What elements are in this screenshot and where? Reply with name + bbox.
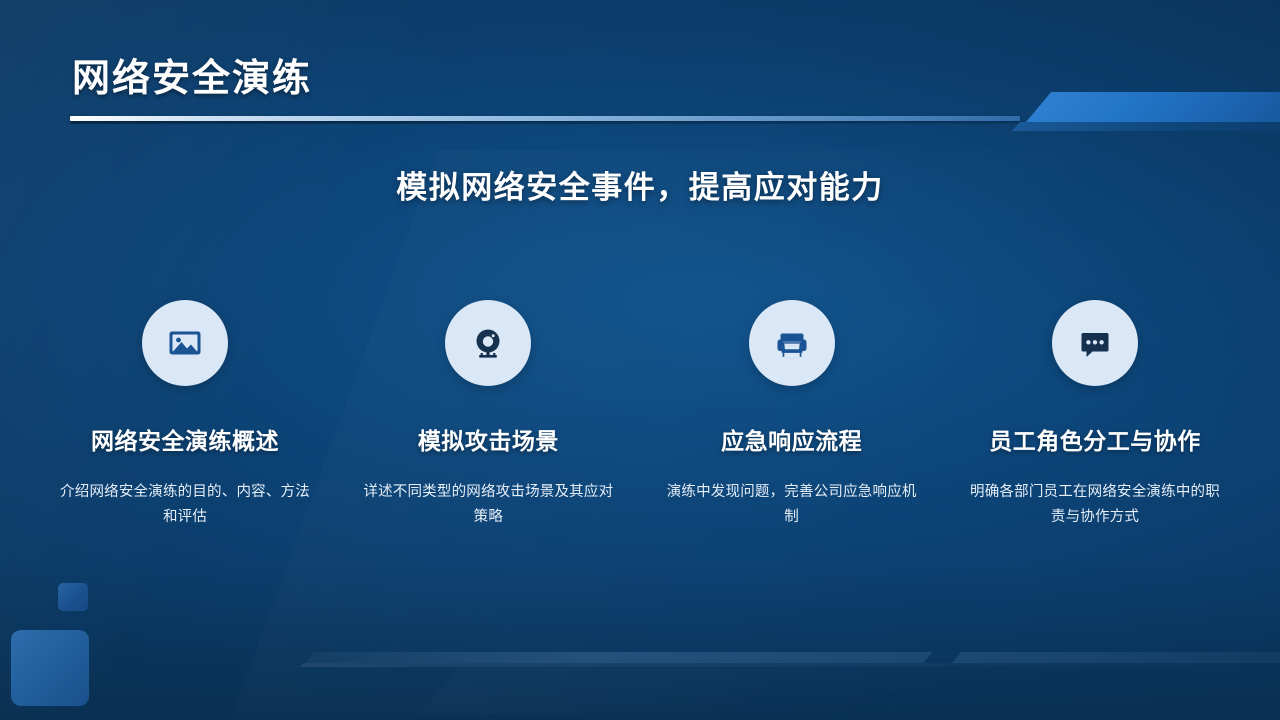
header-accent-shape: [1026, 92, 1280, 122]
feature-card[interactable]: 网络安全演练概述 介绍网络安全演练的目的、内容、方法和评估: [50, 300, 320, 530]
page-title: 网络安全演练: [72, 47, 312, 102]
slide-canvas: 网络安全演练 模拟网络安全事件，提高应对能力 网络安全演练概述 介绍网络安全演练…: [0, 0, 1280, 720]
image-icon: [164, 322, 206, 364]
webcam-icon: [467, 322, 509, 364]
chat-bubble-icon: [1074, 322, 1116, 364]
header-accent-shape-shadow: [1012, 122, 1280, 131]
icon-badge: [142, 300, 228, 386]
icon-badge: [445, 300, 531, 386]
slide-subtitle: 模拟网络安全事件，提高应对能力: [0, 162, 1280, 207]
feature-card-title: 网络安全演练概述: [91, 422, 279, 456]
feature-card[interactable]: 应急响应流程 演练中发现问题，完善公司应急响应机制: [657, 300, 927, 530]
decorative-stripe-wash: [420, 668, 1280, 714]
icon-badge: [749, 300, 835, 386]
icon-badge: [1052, 300, 1138, 386]
decorative-square-large: [11, 630, 89, 706]
feature-card[interactable]: 模拟攻击场景 详述不同类型的网络攻击场景及其应对策略: [353, 300, 623, 530]
decorative-square-small: [58, 583, 88, 611]
feature-card-description: 演练中发现问题，完善公司应急响应机制: [667, 480, 917, 530]
armchair-icon: [771, 322, 813, 364]
header-divider-shadow: [70, 121, 1020, 124]
decorative-stripe-right: [952, 652, 1280, 663]
feature-card-list: 网络安全演练概述 介绍网络安全演练的目的、内容、方法和评估 模拟: [50, 300, 1230, 530]
header-divider: [70, 116, 1020, 121]
feature-card[interactable]: 员工角色分工与协作 明确各部门员工在网络安全演练中的职责与协作方式: [960, 300, 1230, 530]
feature-card-title: 应急响应流程: [721, 422, 862, 456]
feature-card-title: 模拟攻击场景: [418, 422, 559, 456]
feature-card-description: 介绍网络安全演练的目的、内容、方法和评估: [60, 480, 310, 530]
decorative-stripe-hairline: [300, 663, 1280, 667]
feature-card-description: 详述不同类型的网络攻击场景及其应对策略: [363, 480, 613, 530]
decorative-stripe-left: [305, 652, 932, 663]
feature-card-description: 明确各部门员工在网络安全演练中的职责与协作方式: [970, 480, 1220, 530]
feature-card-title: 员工角色分工与协作: [989, 422, 1201, 456]
